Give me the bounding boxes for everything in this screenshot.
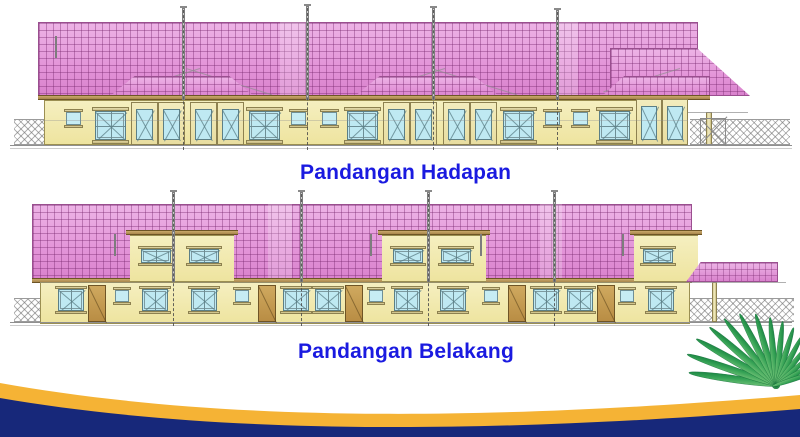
banner-svg [0,365,800,437]
window-sill [391,311,423,314]
carport-beam [688,112,748,113]
upper-ribbon-window [393,249,423,263]
casement-window [599,111,630,140]
folding-door [131,102,158,145]
casement-window [142,289,168,311]
vent-window-sill [289,125,308,128]
rear-porch-roof [686,262,778,282]
rear-timber-door [88,285,106,322]
gate-diagonal [700,119,726,146]
window-sill [312,311,344,314]
vent-window [235,290,249,302]
vent-window-head [482,287,500,290]
door-glass [388,109,405,140]
vent-pipe-cap [304,4,311,6]
folding-door [636,99,662,145]
vent-pipe-cap [170,190,177,192]
upper-ribbon-window [643,249,673,263]
vent-window-sill [64,125,83,128]
vent-window-sill [233,302,251,305]
entrance-gate [700,118,726,145]
party-wall-centreline [433,10,434,150]
folding-door [470,102,497,145]
vent-window-head [367,287,385,290]
vent-window-head [320,109,339,112]
vent-window-head [571,109,590,112]
folding-door [190,102,217,145]
vent-window-head [289,109,308,112]
vent-window [484,290,498,302]
door-diagonal [88,286,107,323]
window-sill [55,311,87,314]
casement-window [394,289,420,311]
party-wall-centreline [301,194,302,326]
vent-window-sill [367,302,385,305]
casement-window [503,111,534,140]
door-diagonal [508,286,527,323]
front-ground-line [10,145,792,146]
window-sill [564,311,596,314]
downpipe-small [55,36,57,58]
window-sill [92,140,129,144]
roof-highlight-band [280,22,306,96]
downpipe-small [622,234,624,256]
downpipe-small [480,234,482,256]
upper-ribbon-window [441,249,471,263]
casement-window [95,111,126,140]
folding-door [383,102,410,145]
vent-window-head [64,109,83,112]
window-sill [139,311,171,314]
party-wall-centreline [557,12,558,150]
window-sill [280,311,312,314]
vent-window-sill [113,302,131,305]
drawing-canvas: Pandangan Hadapan [0,0,800,437]
party-wall-centreline [428,194,429,326]
window-sill [437,311,469,314]
folding-door [443,102,470,145]
bottom-banner [0,365,800,437]
vent-window [115,290,129,302]
door-glass [222,109,239,140]
rear-timber-door [508,285,526,322]
door-glass [163,109,180,140]
upper-window-sill [438,263,474,266]
vent-window [66,112,81,125]
downpipe-small [370,234,372,256]
roof-highlight-band [268,204,292,280]
vent-pipe-cap [425,190,432,192]
window-sill [596,140,633,144]
vent-window-head [618,287,636,290]
door-glass [475,109,492,140]
casement-window [58,289,84,311]
reference-line [40,282,690,283]
rear-timber-door [597,285,615,322]
rear-porch-beam [690,282,786,283]
vent-pipe-cap [430,6,437,8]
upper-window-sill [390,263,426,266]
upper-ribbon-window [189,249,219,263]
door-glass [448,109,465,140]
casement-window [567,289,593,311]
vent-window-sill [571,125,590,128]
vent-window-sill [482,302,500,305]
window-sill [246,140,283,144]
door-glass [136,109,153,140]
folding-door [158,102,185,145]
rear-timber-door [345,285,363,322]
upper-window-sill [640,263,676,266]
door-diagonal [345,286,364,323]
rear-elevation-caption: Pandangan Belakang [298,340,514,364]
door-glass [195,109,212,140]
folding-door [217,102,244,145]
casement-window [249,111,280,140]
door-glass [415,109,432,140]
door-diagonal [258,286,277,323]
window-sill [500,140,537,144]
upper-window-sill [186,263,222,266]
folding-door [662,99,688,145]
vent-window [369,290,383,302]
vent-window [291,112,306,125]
front-elevation-caption: Pandangan Hadapan [300,161,511,185]
door-glass [641,106,657,140]
gate-diagonal [701,116,727,143]
casement-window [191,289,217,311]
party-wall-centreline [307,8,308,150]
vent-window-sill [543,125,562,128]
reference-line [44,120,688,121]
front-elevation [0,0,800,160]
vent-window-head [113,287,131,290]
vent-window-head [543,109,562,112]
window-sill [188,311,220,314]
vent-window-sill [320,125,339,128]
downpipe-small [114,234,116,256]
upper-ribbon-window [141,249,171,263]
vent-pipe-cap [180,6,187,8]
door-glass [667,106,683,140]
party-wall-centreline [183,10,184,150]
party-wall-centreline [173,194,174,326]
party-wall-centreline [554,194,555,326]
vent-pipe-cap [554,8,561,10]
door-diagonal [597,286,616,323]
casement-window [283,289,309,311]
casement-window [347,111,378,140]
roof-highlight-band-2 [556,22,578,96]
roof-highlight-band-2 [540,204,562,280]
vent-pipe-cap [298,190,305,192]
vent-window [573,112,588,125]
vent-window [322,112,337,125]
rear-timber-door [258,285,276,322]
window-sill [530,311,562,314]
casement-window [533,289,559,311]
window-sill [344,140,381,144]
casement-window [440,289,466,311]
vent-pipe-cap [551,190,558,192]
vent-window-head [233,287,251,290]
front-ground-line-2 [10,148,792,149]
upper-window-sill [138,263,174,266]
casement-window [315,289,341,311]
